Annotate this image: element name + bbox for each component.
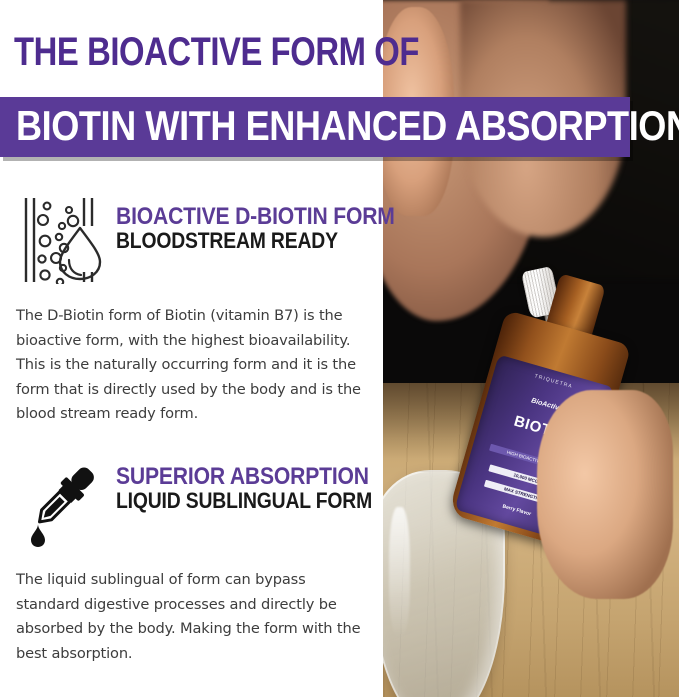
hand-holding-bottle [537,390,673,599]
feature-body-text: The liquid sublingual of form can bypass… [16,568,367,666]
product-infographic: TRIQUETRA BioActive BIOTIN HIGH BIOACTIV… [0,0,679,697]
feature-title: SUPERIOR ABSORPTION [116,464,346,489]
feature-title: BIOACTIVE D-BIOTIN FORM [116,204,346,229]
feature-block-bioactive: BIOACTIVE D-BIOTIN FORM BLOODSTREAM READ… [0,196,383,288]
feature-subtitle: BLOODSTREAM READY [116,229,346,253]
feature-header: SUPERIOR ABSORPTION LIQUID SUBLINGUAL FO… [0,456,383,552]
headline-line-1: THE BIOACTIVE FORM OF [14,32,419,72]
dropper-pipette-icon [14,456,106,544]
feature-body-text: The D-Biotin form of Biotin (vitamin B7)… [16,304,367,427]
feature-header: BIOACTIVE D-BIOTIN FORM BLOODSTREAM READ… [0,196,383,288]
glass-highlight [389,507,410,637]
feature-titles: SUPERIOR ABSORPTION LIQUID SUBLINGUAL FO… [116,464,377,513]
feature-block-absorption: SUPERIOR ABSORPTION LIQUID SUBLINGUAL FO… [0,456,383,552]
feature-titles: BIOACTIVE D-BIOTIN FORM BLOODSTREAM READ… [116,204,377,253]
headline-line-2: BIOTIN WITH ENHANCED ABSORPTION [16,105,679,147]
feature-subtitle: LIQUID SUBLINGUAL FORM [116,489,346,513]
bloodstream-droplet-icon [14,196,106,284]
